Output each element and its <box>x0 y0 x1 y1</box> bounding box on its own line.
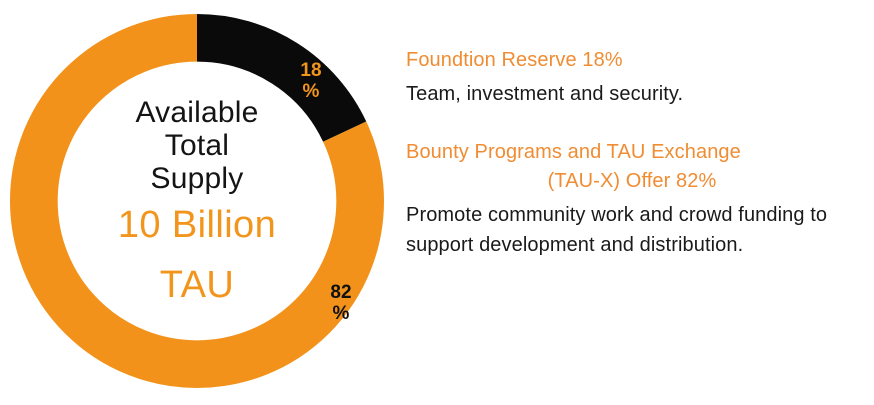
supply-donut-chart: Available Total Supply 10 Billion TAU 18… <box>10 14 384 388</box>
legend-column: Foundtion Reserve 18% Team, investment a… <box>406 46 858 260</box>
legend-heading-foundation-reserve: Foundtion Reserve 18% <box>406 46 858 75</box>
legend-body-foundation-reserve: Team, investment and security. <box>406 79 858 109</box>
legend-body-bounty-programs: Promote community work and crowd funding… <box>406 200 858 260</box>
legend-block-foundation-reserve: Foundtion Reserve 18% Team, investment a… <box>406 46 858 109</box>
legend-heading-bounty-programs: Bounty Programs and TAU Exchange <box>406 138 858 167</box>
legend-block-bounty-programs: Bounty Programs and TAU Exchange (TAU-X)… <box>406 138 858 260</box>
donut-svg <box>10 14 384 388</box>
legend-heading-bounty-programs-line2: (TAU-X) Offer 82% <box>406 167 858 196</box>
